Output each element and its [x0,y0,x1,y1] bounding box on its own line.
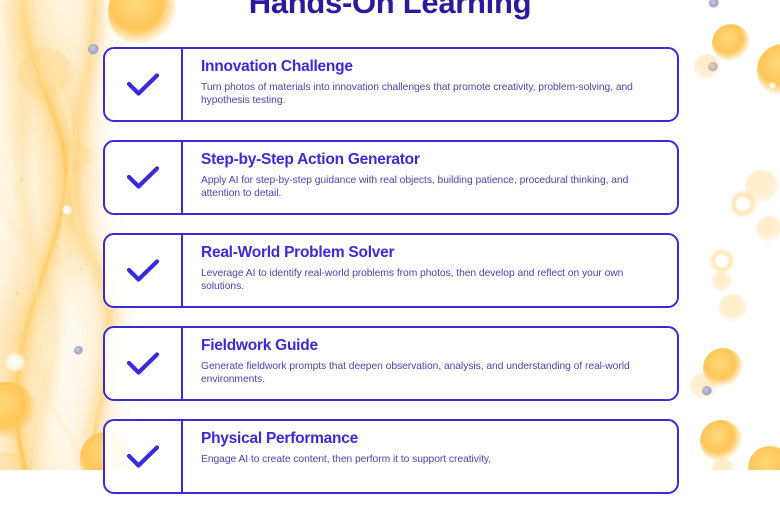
bokeh-orb [708,62,718,72]
card-description: Generate fieldwork prompts that deepen o… [201,360,663,386]
bokeh-orb [709,248,735,274]
bokeh-orb [74,346,83,355]
feature-card[interactable]: Innovation Challenge Turn photos of mate… [103,47,679,122]
card-heading: Fieldwork Guide [201,337,663,355]
card-icon-cell [105,142,183,213]
card-heading: Real-World Problem Solver [201,244,663,262]
card-icon-cell [105,49,183,120]
feature-card[interactable]: Step-by-Step Action Generator Apply AI f… [103,140,679,215]
sparkle [16,292,19,295]
sparkle [20,178,23,181]
card-description: Engage AI to create content, then perfor… [201,453,663,466]
card-icon-cell [105,421,183,492]
bokeh-orb [769,82,776,89]
sparkle [28,412,31,415]
page-title: Hands-On Learning [0,0,780,20]
card-body: Innovation Challenge Turn photos of mate… [183,49,677,120]
feature-card[interactable]: Fieldwork Guide Generate fieldwork promp… [103,326,679,401]
feature-card[interactable]: Real-World Problem Solver Leverage AI to… [103,233,679,308]
check-icon [126,258,160,284]
bokeh-orb [18,48,74,104]
sparkle [34,96,37,99]
card-icon-cell [105,235,183,306]
check-icon [126,444,160,470]
sparkle [66,62,68,64]
check-icon [126,165,160,191]
feature-card[interactable]: Physical Performance Engage AI to create… [103,419,679,494]
card-body: Physical Performance Engage AI to create… [183,421,677,492]
sparkle [56,246,58,248]
card-heading: Step-by-Step Action Generator [201,151,663,169]
bokeh-orb [712,272,732,292]
check-icon [126,72,160,98]
bokeh-orb [0,452,30,470]
bokeh-orb [756,216,780,242]
card-heading: Innovation Challenge [201,58,663,76]
card-body: Fieldwork Guide Generate fieldwork promp… [183,328,677,399]
feature-card-list: Innovation Challenge Turn photos of mate… [103,47,679,512]
bokeh-orb [690,372,718,400]
bokeh-orb [703,348,743,388]
card-description: Turn photos of materials into innovation… [201,81,663,107]
card-icon-cell [105,328,183,399]
sparkle [72,118,74,120]
bokeh-orb [5,352,25,372]
card-description: Apply AI for step-by-step guidance with … [201,174,663,200]
bokeh-orb [88,44,99,55]
check-icon [126,351,160,377]
card-description: Leverage AI to identify real-world probl… [201,267,663,293]
bokeh-orb [712,24,750,62]
bokeh-orb [700,420,742,462]
bokeh-orb [757,44,780,96]
sparkle [80,268,82,270]
sparkle [44,330,46,332]
bokeh-orb [729,190,757,218]
bokeh-orb [0,382,36,440]
bokeh-orb [62,142,92,172]
bokeh-orb [694,54,720,80]
bokeh-orb [702,386,712,396]
bokeh-orb [748,446,780,470]
bokeh-orb [719,294,747,322]
card-body: Real-World Problem Solver Leverage AI to… [183,235,677,306]
bokeh-orb [712,458,734,470]
card-body: Step-by-Step Action Generator Apply AI f… [183,142,677,213]
card-heading: Physical Performance [201,430,663,448]
bokeh-orb [745,170,779,204]
bokeh-orb [62,205,72,215]
